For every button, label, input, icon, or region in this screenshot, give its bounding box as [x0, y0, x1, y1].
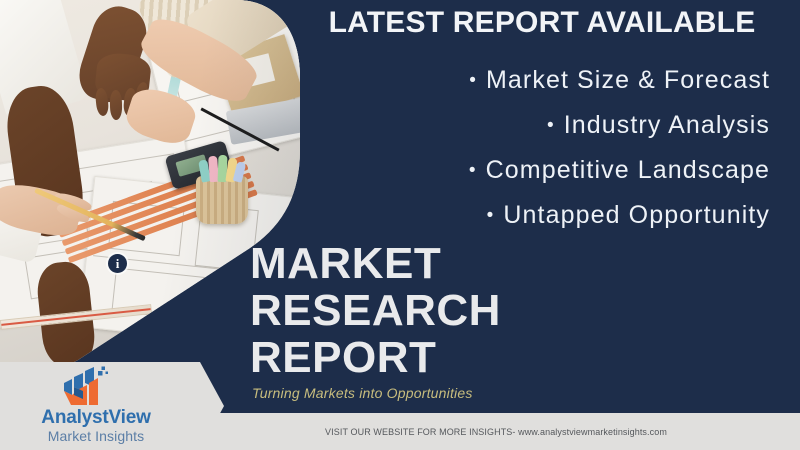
bullet-dot-icon: •	[469, 148, 477, 193]
list-item-label: Competitive Landscape	[486, 156, 770, 184]
report-title-line-2: RESEARCH	[250, 287, 501, 334]
report-title: MARKET RESEARCH REPORT	[250, 240, 501, 381]
list-item-label: Industry Analysis	[564, 111, 770, 139]
brand-subtitle: Market Insights	[0, 428, 192, 444]
poster-canvas: i LATEST REPORT AVAILABLE •Market Size &…	[0, 0, 800, 450]
list-item-label: Market Size & Forecast	[486, 66, 770, 94]
list-item-label: Untapped Opportunity	[503, 201, 770, 229]
list-item: •Untapped Opportunity	[370, 193, 770, 238]
report-title-line-3: REPORT	[250, 334, 501, 381]
list-item: •Competitive Landscape	[370, 148, 770, 193]
page-title: LATEST REPORT AVAILABLE	[296, 6, 788, 40]
feature-list: •Market Size & Forecast •Industry Analys…	[370, 58, 770, 238]
bullet-dot-icon: •	[469, 58, 477, 103]
list-item: •Market Size & Forecast	[370, 58, 770, 103]
footer-website-text[interactable]: VISIT OUR WEBSITE FOR MORE INSIGHTS- www…	[178, 413, 800, 450]
bullet-dot-icon: •	[547, 103, 555, 148]
bullet-dot-icon: •	[487, 193, 495, 238]
bar-chart-growth-icon	[58, 365, 110, 407]
footer-bar: VISIT OUR WEBSITE FOR MORE INSIGHTS- www…	[178, 413, 800, 450]
report-title-line-1: MARKET	[250, 240, 501, 287]
info-icon[interactable]: i	[108, 254, 127, 273]
tagline: Turning Markets into Opportunities	[252, 385, 473, 401]
list-item: •Industry Analysis	[370, 103, 770, 148]
brand-name: AnalystView	[0, 407, 192, 429]
